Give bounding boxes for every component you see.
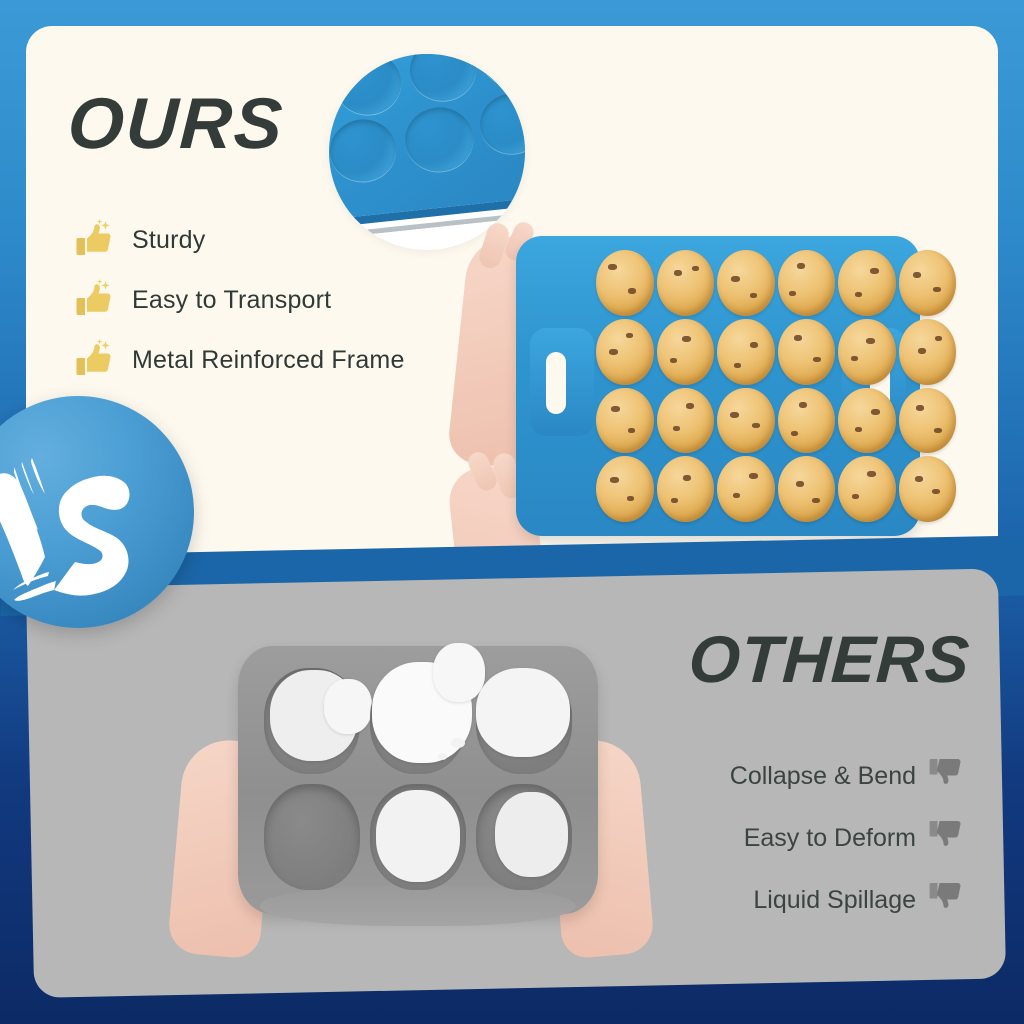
muffin <box>899 388 957 454</box>
muffin <box>657 250 715 316</box>
comparison-infographic: OURS Sturdy <box>0 0 1024 1024</box>
thumbs-up-icon <box>74 338 118 382</box>
mold-cup <box>370 784 466 890</box>
mold-cup <box>476 668 572 774</box>
others-feature-label: Liquid Spillage <box>753 886 916 915</box>
muffin <box>838 456 896 522</box>
muffin <box>657 319 715 385</box>
gray-silicone-mold <box>176 628 646 958</box>
tray-cup <box>407 54 479 104</box>
vs-badge <box>0 396 194 628</box>
mold-cup <box>476 784 572 890</box>
tray-cup <box>329 116 399 185</box>
muffin <box>596 250 654 316</box>
tray-closeup-circle <box>329 54 525 250</box>
tray-handle-left <box>530 328 594 436</box>
muffin <box>778 388 836 454</box>
ours-feature-row: Metal Reinforced Frame <box>74 331 504 389</box>
muffin <box>717 388 775 454</box>
muffin <box>717 250 775 316</box>
mold-cup <box>370 668 466 774</box>
muffin <box>838 319 896 385</box>
tray-cup <box>477 91 525 157</box>
thumbs-down-icon <box>928 818 968 858</box>
others-feature-list: Collapse & Bend Easy to Deform <box>638 748 968 934</box>
muffin <box>778 456 836 522</box>
others-feature-row: Easy to Deform <box>638 810 968 866</box>
muffin <box>596 319 654 385</box>
ours-feature-label: Sturdy <box>132 226 205 255</box>
thumbs-down-icon <box>928 756 968 796</box>
others-panel: OTHERS Collapse & Bend Easy to Deform <box>26 568 1006 997</box>
muffin <box>657 456 715 522</box>
mold-body <box>238 646 598 914</box>
muffin <box>778 319 836 385</box>
others-feature-label: Easy to Deform <box>744 824 916 853</box>
muffin <box>717 456 775 522</box>
ours-feature-label: Easy to Transport <box>132 286 331 315</box>
muffin <box>596 388 654 454</box>
muffin <box>899 250 957 316</box>
ours-feature-row: Easy to Transport <box>74 271 504 329</box>
thumbs-up-icon <box>74 218 118 262</box>
others-feature-label: Collapse & Bend <box>730 762 916 791</box>
muffin <box>899 456 957 522</box>
muffin <box>899 319 957 385</box>
ours-title: OURS <box>66 88 286 160</box>
vs-brush-icon <box>0 396 194 628</box>
ours-feature-label: Metal Reinforced Frame <box>132 346 405 375</box>
others-feature-row: Collapse & Bend <box>638 748 968 804</box>
tray-cup <box>332 54 404 118</box>
others-feature-row: Liquid Spillage <box>638 872 968 928</box>
thumbs-up-icon <box>74 278 118 322</box>
muffin <box>596 456 654 522</box>
mold-cup-grid <box>264 668 572 890</box>
mold-cup <box>264 784 360 890</box>
muffin <box>717 319 775 385</box>
others-title: OTHERS <box>687 626 971 692</box>
tray-cup <box>402 104 476 175</box>
muffin <box>838 388 896 454</box>
mold-cup <box>264 668 360 774</box>
blue-muffin-tray <box>458 236 978 552</box>
tray-cup-grid <box>596 250 956 522</box>
muffin <box>778 250 836 316</box>
tray-body <box>516 236 920 536</box>
muffin <box>838 250 896 316</box>
tray-cup <box>478 54 525 88</box>
muffin <box>657 388 715 454</box>
thumbs-down-icon <box>928 880 968 920</box>
